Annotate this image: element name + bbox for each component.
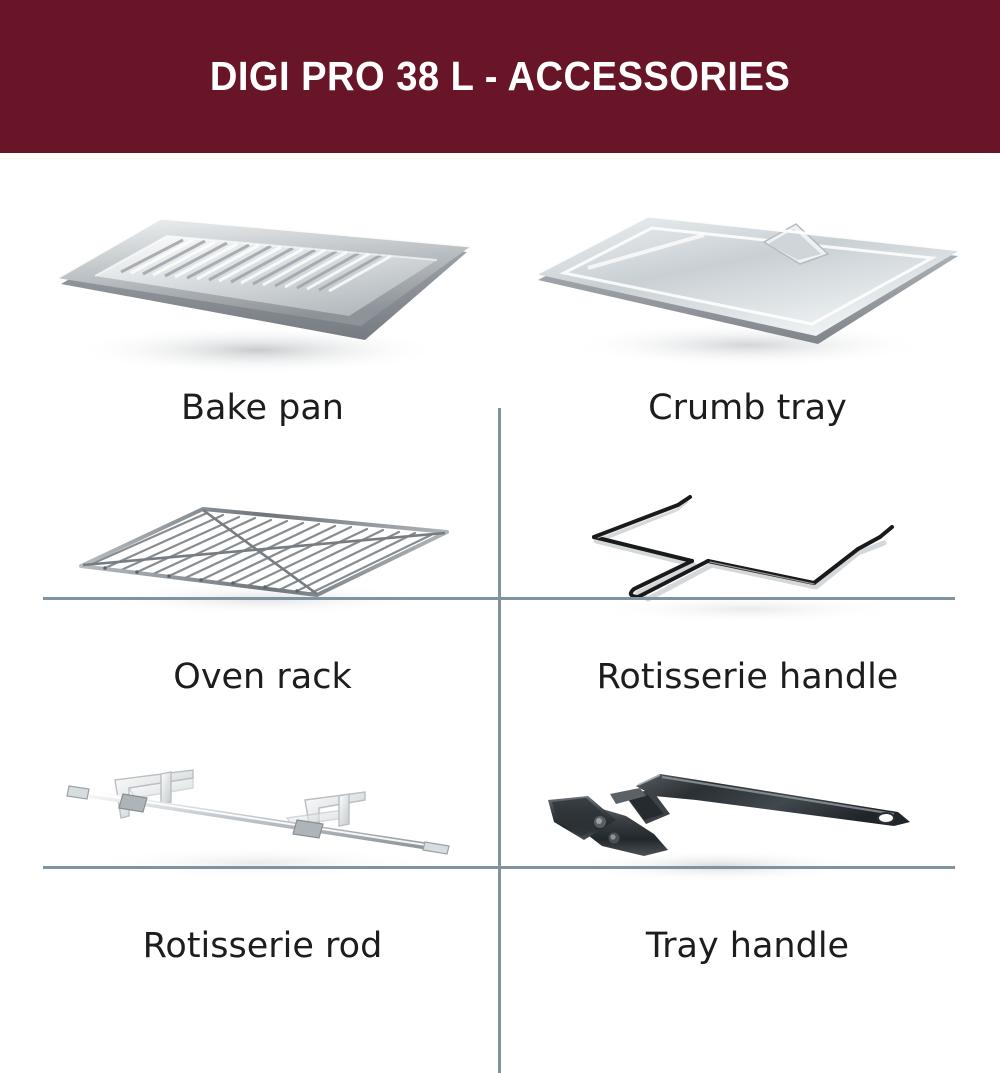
crumb-tray-illustration (528, 200, 968, 385)
oven-rack-illustration (43, 469, 483, 654)
accessory-item-crumb-tray[interactable]: Crumb tray (520, 200, 975, 450)
accessory-label: Bake pan (181, 391, 344, 426)
accessories-grid: Bake pan (0, 153, 1000, 1000)
page-title: DIGI PRO 38 L - ACCESSORIES (210, 56, 790, 97)
header-banner: DIGI PRO 38 L - ACCESSORIES (0, 0, 1000, 153)
accessory-item-oven-rack[interactable]: Oven rack (35, 469, 490, 719)
tray-handle-illustration (528, 738, 968, 923)
rotisserie-rod-illustration (43, 738, 483, 923)
accessory-label: Oven rack (173, 660, 351, 695)
accessory-label: Tray handle (646, 929, 849, 964)
bake-pan-illustration (43, 200, 483, 385)
rotisserie-handle-illustration (528, 469, 968, 654)
accessory-item-bake-pan[interactable]: Bake pan (35, 200, 490, 450)
accessory-label: Rotisserie rod (143, 929, 383, 964)
accessory-item-rotisserie-handle[interactable]: Rotisserie handle (520, 469, 975, 719)
accessory-label: Rotisserie handle (597, 660, 899, 695)
accessory-item-tray-handle[interactable]: Tray handle (520, 738, 975, 988)
divider-vertical-column (498, 408, 501, 1073)
accessory-item-rotisserie-rod[interactable]: Rotisserie rod (35, 738, 490, 988)
accessory-label: Crumb tray (648, 391, 847, 426)
